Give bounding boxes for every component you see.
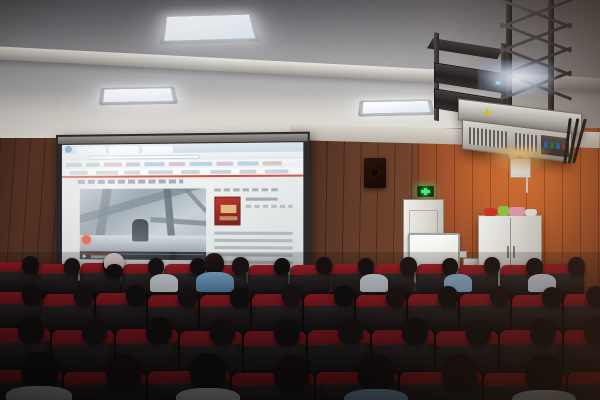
bookmark-1[interactable] — [66, 163, 82, 167]
audience-shoulders — [360, 274, 388, 292]
browser-logo-icon — [65, 146, 72, 153]
light-face — [163, 14, 256, 42]
cabinet-item-green — [498, 206, 509, 216]
scissor-link-2 — [498, 24, 570, 50]
cabinet-top-items — [480, 205, 540, 217]
browser-tab-1[interactable] — [76, 146, 106, 153]
audience-head — [22, 284, 42, 305]
light-face — [102, 88, 174, 103]
audience-head — [568, 257, 585, 275]
projector-cable-bundle — [566, 118, 600, 166]
bookmark-3[interactable] — [104, 162, 122, 166]
audience-head — [542, 287, 562, 308]
audience-head — [584, 318, 600, 344]
light-face — [361, 100, 431, 114]
audience-head — [334, 286, 354, 307]
audience-seating — [0, 252, 600, 400]
audience-head — [466, 319, 491, 345]
person-turned-to-camera — [204, 253, 224, 274]
browser-tab-3[interactable] — [142, 145, 173, 152]
bookmark-4[interactable] — [126, 162, 140, 166]
site-nav-item-3[interactable] — [124, 170, 140, 174]
audience-head — [148, 258, 164, 275]
video-beam-5 — [181, 188, 206, 213]
audience-head — [274, 258, 290, 275]
lamp-cord — [526, 177, 528, 193]
video-worker-figure — [132, 219, 148, 241]
browser-address-input[interactable] — [88, 154, 200, 160]
article-subtitle — [246, 205, 293, 208]
ceiling-light-panel-2 — [102, 88, 174, 103]
port-1 — [544, 141, 548, 147]
audience-head — [274, 319, 300, 346]
audience-head — [82, 318, 107, 344]
port-3 — [556, 143, 560, 149]
site-nav-item-6[interactable] — [210, 169, 231, 173]
audience-head — [282, 286, 301, 306]
article-section-heading — [214, 188, 279, 191]
thumbnail-emblem-1 — [221, 205, 237, 213]
video-watermark-icon — [82, 235, 91, 244]
article-thumbnail[interactable] — [214, 197, 240, 226]
exit-cross-glyph — [421, 188, 430, 195]
bookmark-9[interactable] — [237, 161, 258, 165]
audience-head — [400, 257, 417, 275]
audience-head — [530, 318, 556, 345]
audience-head — [190, 353, 226, 391]
audience-head — [490, 286, 509, 306]
audience-head — [338, 318, 363, 344]
cabinet-item-red — [484, 208, 497, 216]
projector-rig — [424, 0, 600, 158]
bookmark-8[interactable] — [216, 162, 233, 166]
bookmark-10[interactable] — [263, 161, 282, 165]
projector-underglow — [484, 148, 554, 174]
audience-head — [274, 355, 309, 392]
projector-vent-left — [469, 127, 507, 149]
audience-head — [358, 354, 394, 392]
site-accent-rule — [62, 175, 303, 178]
bookmark-5[interactable] — [144, 162, 164, 166]
audience-head — [18, 316, 44, 343]
audience-shoulders — [150, 274, 178, 292]
audience-head — [442, 258, 458, 275]
speaker-cone — [371, 169, 378, 176]
breadcrumb — [78, 179, 183, 184]
projector-beam-glow — [478, 60, 556, 96]
audience-head — [22, 256, 39, 274]
bookmark-2[interactable] — [86, 163, 100, 167]
audience-head — [402, 318, 428, 345]
article-title[interactable] — [246, 198, 278, 201]
site-nav-item-7[interactable] — [240, 169, 257, 173]
thumbnail-emblem-2 — [220, 216, 238, 220]
video-beam-4 — [150, 217, 206, 227]
audience-head — [442, 354, 477, 391]
audience-head — [64, 258, 80, 275]
audience-shoulders — [512, 390, 576, 400]
audience-head — [438, 286, 458, 307]
audience-head — [210, 319, 235, 345]
audience-head — [358, 258, 374, 275]
ceiling-light-panel-3 — [361, 100, 431, 114]
site-nav-item-8[interactable] — [265, 169, 288, 173]
site-nav-item-2[interactable] — [96, 170, 118, 174]
audience-head — [178, 287, 197, 307]
scissor-link-1 — [498, 0, 570, 26]
cabinet-item-white — [525, 209, 537, 216]
scissor-lift — [490, 0, 576, 116]
audience-head — [22, 352, 58, 390]
audience-head — [106, 354, 141, 391]
bookmark-6[interactable] — [169, 162, 185, 166]
audience-head — [230, 287, 250, 308]
browser-tab-2[interactable] — [109, 146, 139, 153]
audience-head — [316, 257, 332, 274]
audience-head — [126, 285, 146, 306]
audience-head — [526, 355, 562, 393]
site-nav-item-1[interactable] — [70, 170, 88, 174]
site-nav-item-5[interactable] — [181, 170, 200, 174]
audience-head — [74, 286, 93, 306]
audience-shoulders — [6, 386, 72, 400]
audience-head — [232, 257, 249, 275]
exit-sign-icon — [417, 186, 434, 197]
ceiling-light-panel-1 — [163, 14, 256, 42]
audience-head — [106, 264, 123, 278]
cabinet-item-pink — [509, 207, 525, 216]
audience-shoulders — [176, 388, 240, 400]
auditorium-photo — [0, 0, 600, 400]
audience-head — [484, 257, 500, 274]
warning-triangle-icon — [483, 107, 491, 115]
video-player[interactable] — [80, 188, 206, 260]
audience-head — [146, 317, 172, 344]
audience-shoulders-blue — [196, 272, 234, 292]
audience-head — [386, 287, 405, 307]
audience-head — [586, 286, 600, 306]
audience-shoulders — [344, 389, 408, 400]
site-nav-item-4[interactable] — [148, 170, 173, 174]
bookmark-7[interactable] — [189, 162, 212, 166]
wall-speaker — [364, 158, 386, 188]
